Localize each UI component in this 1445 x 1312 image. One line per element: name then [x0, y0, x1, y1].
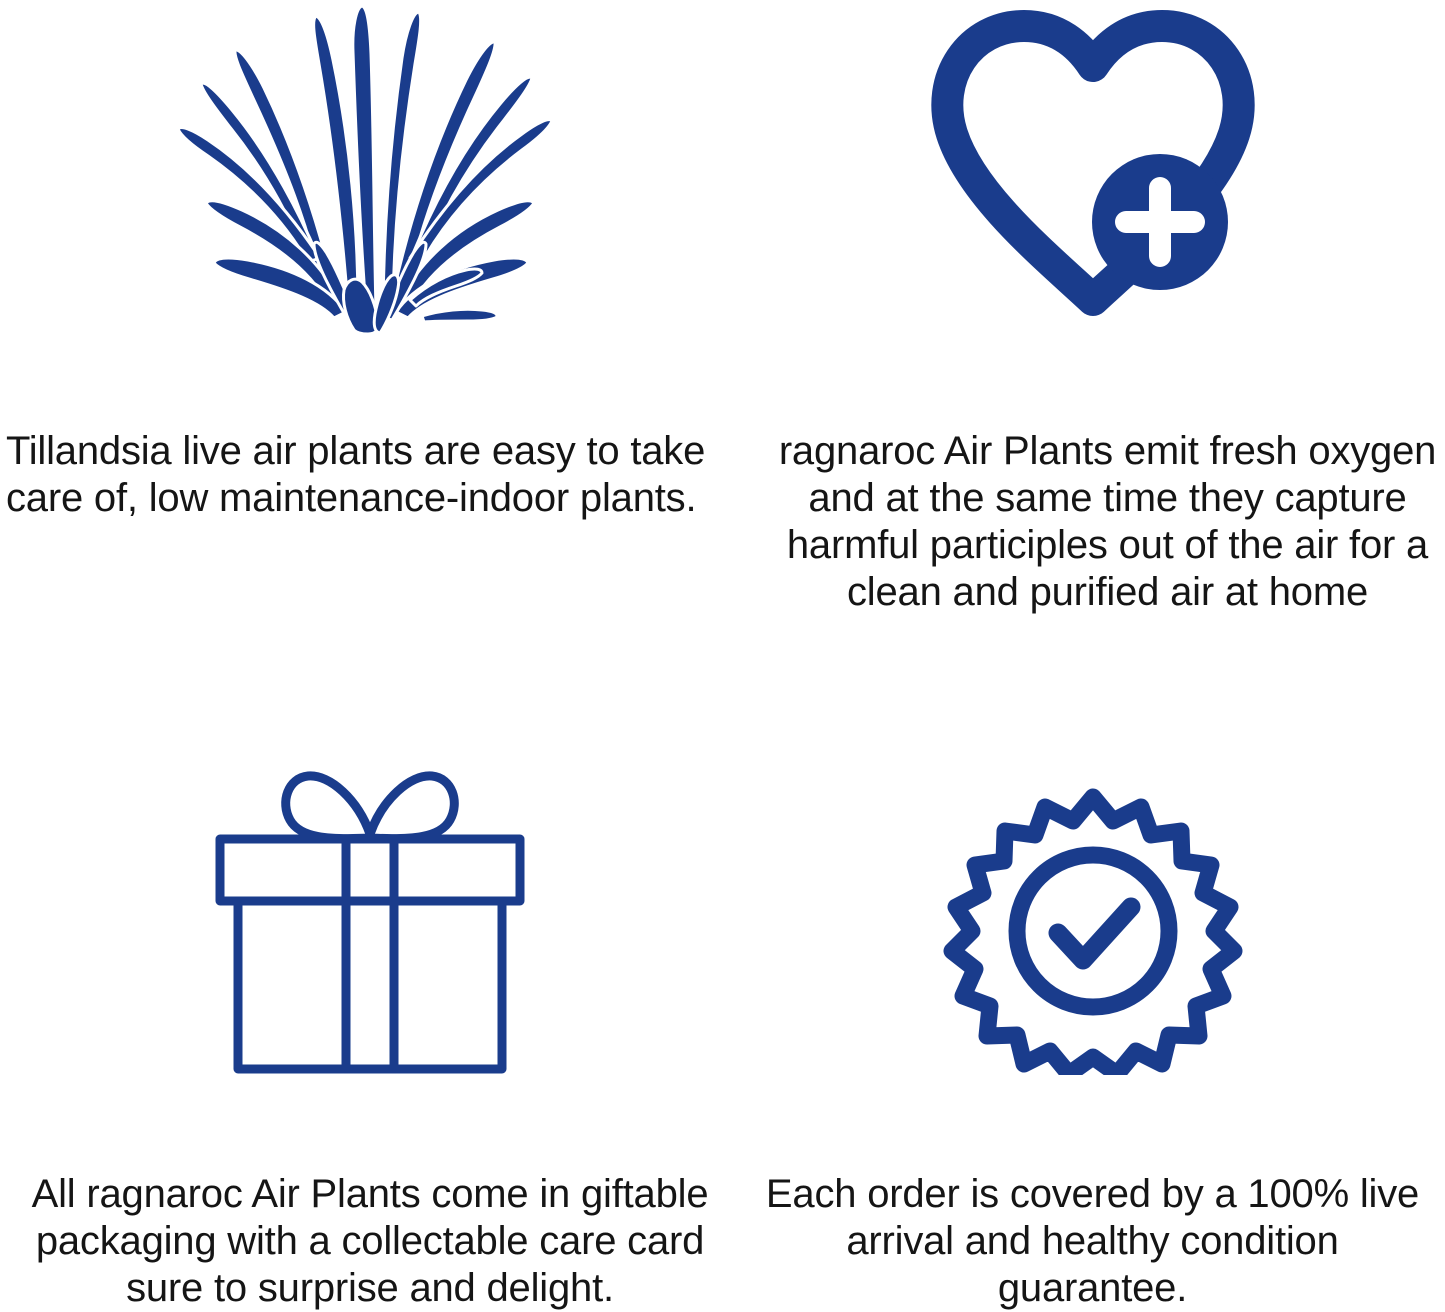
check-ring [1017, 855, 1169, 1007]
feature-card-giftable-packaging: All ragnaroc Air Plants come in giftable… [0, 660, 740, 1312]
gift-box-icon [210, 760, 530, 1080]
air-plant-icon-wrap [0, 0, 740, 420]
guarantee-badge-icon [943, 785, 1243, 1075]
gift-body [238, 901, 502, 1069]
gift-lid [220, 839, 520, 901]
feature-caption: ragnaroc Air Plants emit fresh oxygen an… [740, 428, 1445, 616]
feature-caption: Tillandsia live air plants are easy to t… [0, 428, 740, 522]
gift-box-icon-wrap [0, 660, 740, 1139]
feature-card-air-plant: Tillandsia live air plants are easy to t… [0, 0, 740, 660]
air-plant-icon [170, 0, 570, 340]
check-icon [1058, 907, 1131, 960]
feature-grid: Tillandsia live air plants are easy to t… [0, 0, 1445, 1312]
heart-plus-icon [928, 0, 1258, 320]
bow-right-loop [370, 776, 454, 839]
bow-left-loop [286, 776, 370, 839]
heart-plus-icon-wrap [740, 0, 1445, 420]
feature-caption: Each order is covered by a 100% live arr… [740, 1171, 1445, 1312]
guarantee-badge-icon-wrap [740, 660, 1445, 1139]
feature-card-guarantee: Each order is covered by a 100% live arr… [740, 660, 1445, 1312]
feature-card-fresh-oxygen: ragnaroc Air Plants emit fresh oxygen an… [740, 0, 1445, 660]
feature-caption: All ragnaroc Air Plants come in giftable… [0, 1171, 740, 1312]
